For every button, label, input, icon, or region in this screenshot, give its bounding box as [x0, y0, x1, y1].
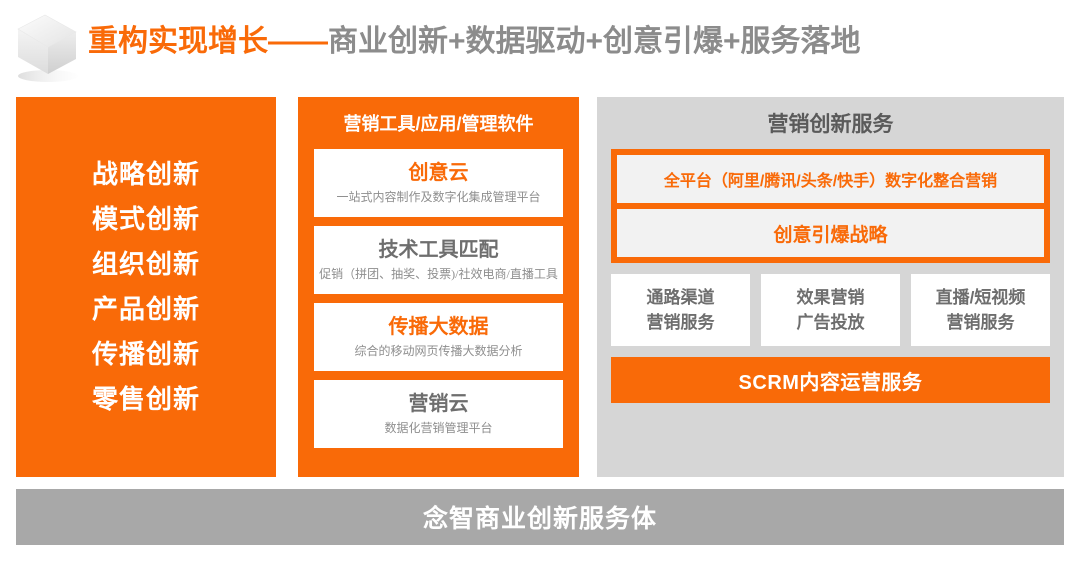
innovation-panel: 战略创新 模式创新 组织创新 产品创新 传播创新 零售创新 [16, 97, 276, 477]
tool-card-title: 传播大数据 [389, 314, 489, 340]
service-box-line1: 通路渠道 [647, 285, 715, 310]
tool-card[interactable]: 创意云 一站式内容制作及数字化集成管理平台 [314, 149, 563, 217]
page-title-accent: 重构实现增长—— [88, 25, 328, 58]
cube-3d-icon [8, 10, 86, 84]
service-box-line2: 营销服务 [647, 310, 715, 335]
service-box-line2: 营销服务 [947, 310, 1015, 335]
page-title: 重构实现增长——商业创新+数据驱动+创意引爆+服务落地 [88, 21, 861, 63]
strategy-card-creative[interactable]: 创意引爆战略 [617, 209, 1044, 257]
header: 重构实现增长——商业创新+数据驱动+创意引爆+服务落地 [0, 0, 1080, 92]
slide-canvas: 重构实现增长——商业创新+数据驱动+创意引爆+服务落地 战略创新 模式创新 组织… [0, 0, 1080, 563]
tool-card-subtitle: 一站式内容制作及数字化集成管理平台 [336, 188, 540, 206]
columns-row: 战略创新 模式创新 组织创新 产品创新 传播创新 零售创新 营销工具/应用/管理… [16, 97, 1064, 477]
marketing-tools-title: 营销工具/应用/管理软件 [314, 111, 563, 137]
tool-card[interactable]: 传播大数据 综合的移动网页传播大数据分析 [314, 303, 563, 371]
marketing-service-title: 营销创新服务 [611, 109, 1050, 141]
tool-card-subtitle: 促销（拼团、抽奖、投票)/社效电商/直播工具 [319, 265, 558, 283]
tool-card[interactable]: 技术工具匹配 促销（拼团、抽奖、投票)/社效电商/直播工具 [314, 226, 563, 294]
innovation-item: 产品创新 [92, 287, 200, 332]
tool-card-subtitle: 数据化营销管理平台 [384, 419, 492, 437]
scrm-bar[interactable]: SCRM内容运营服务 [611, 357, 1050, 403]
innovation-item: 传播创新 [92, 332, 200, 377]
service-box-channel[interactable]: 通路渠道 营销服务 [611, 274, 750, 346]
footer-label: 念智商业创新服务体 [423, 499, 657, 535]
service-box-line2: 广告投放 [797, 310, 865, 335]
innovation-item: 模式创新 [92, 197, 200, 242]
marketing-service-panel: 营销创新服务 全平台（阿里/腾讯/头条/快手）数字化整合营销 创意引爆战略 通路… [597, 97, 1064, 477]
footer-bar: 念智商业创新服务体 [16, 489, 1064, 545]
strategy-box: 全平台（阿里/腾讯/头条/快手）数字化整合营销 创意引爆战略 [611, 149, 1050, 263]
tool-card[interactable]: 营销云 数据化营销管理平台 [314, 380, 563, 448]
tool-card-subtitle: 综合的移动网页传播大数据分析 [354, 342, 522, 360]
service-box-performance[interactable]: 效果营销 广告投放 [761, 274, 900, 346]
service-row: 通路渠道 营销服务 效果营销 广告投放 直播/短视频 营销服务 [611, 274, 1050, 346]
service-box-line1: 直播/短视频 [936, 285, 1026, 310]
service-box-livestream[interactable]: 直播/短视频 营销服务 [911, 274, 1050, 346]
strategy-card-platform[interactable]: 全平台（阿里/腾讯/头条/快手）数字化整合营销 [617, 155, 1044, 203]
tool-card-title: 技术工具匹配 [379, 237, 499, 263]
tool-card-title: 营销云 [409, 391, 469, 417]
marketing-tools-panel: 营销工具/应用/管理软件 创意云 一站式内容制作及数字化集成管理平台 技术工具匹… [298, 97, 579, 477]
innovation-item: 零售创新 [92, 377, 200, 422]
innovation-item: 组织创新 [92, 242, 200, 287]
innovation-item: 战略创新 [92, 152, 200, 197]
service-box-line1: 效果营销 [797, 285, 865, 310]
page-title-muted: 商业创新+数据驱动+创意引爆+服务落地 [328, 25, 861, 58]
tool-card-title: 创意云 [409, 160, 469, 186]
